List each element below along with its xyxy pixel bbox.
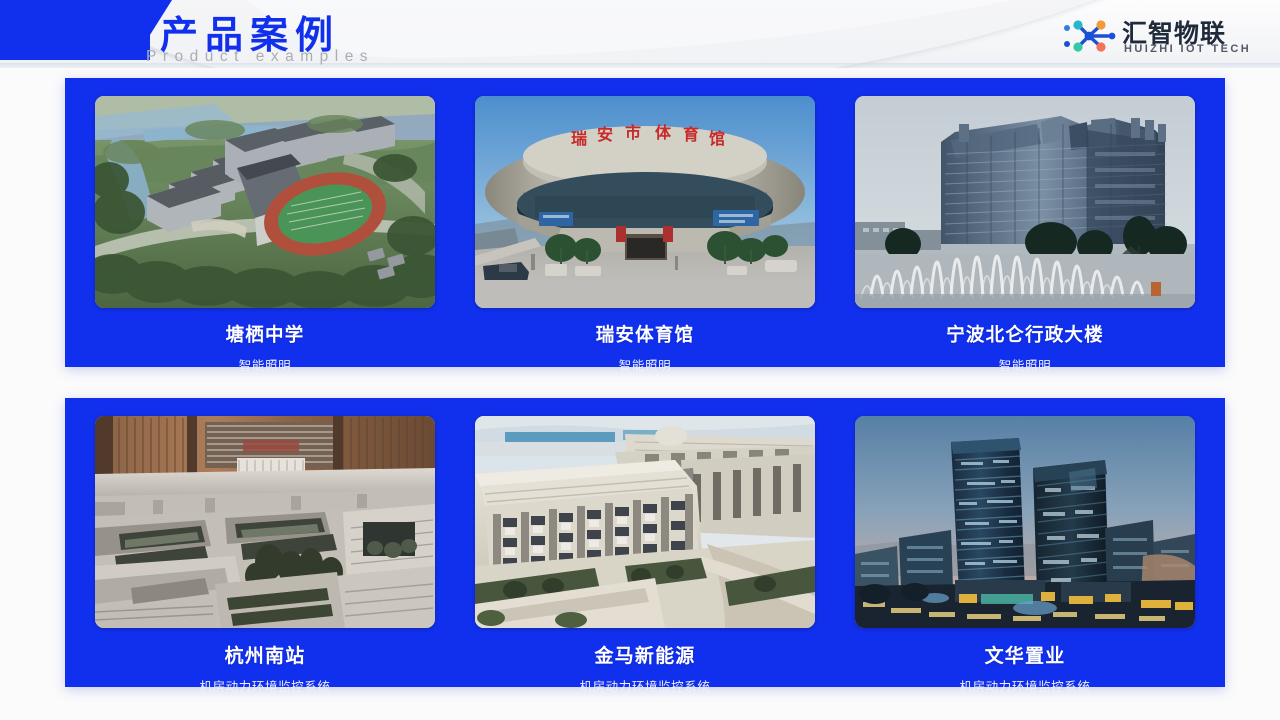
card-title: 塘栖中学	[95, 321, 435, 347]
aerial-school-campus-photo	[95, 96, 435, 308]
card-title: 宁波北仑行政大楼	[855, 321, 1195, 347]
card-subtitle: 机房动力环境监控系统	[475, 676, 815, 695]
card-title: 金马新能源	[475, 641, 815, 668]
card-title: 杭州南站	[95, 641, 435, 668]
railway-station-model-photo	[95, 416, 435, 628]
card-title: 瑞安体育馆	[475, 321, 815, 347]
card-subtitle: 机房动力环境监控系统	[855, 676, 1195, 695]
card-title: 文华置业	[855, 641, 1195, 668]
round-gymnasium-photo: 瑞安 市体 育馆	[475, 96, 815, 308]
twin-glass-towers-dusk-photo	[855, 416, 1195, 628]
molecule-network-icon	[1062, 17, 1118, 55]
product-row-1-panel: 塘栖中学 智能照明	[65, 78, 1225, 367]
slide-canvas: 产品案例 Product examples 汇智物联	[0, 0, 1280, 720]
card-subtitle: 智能照明	[855, 355, 1195, 374]
product-card-list-row-2: 杭州南站 机房动力环境监控系统	[65, 398, 1225, 687]
card-subtitle: 智能照明	[95, 355, 435, 374]
product-card-list-row-1: 塘栖中学 智能照明	[65, 78, 1225, 367]
product-card[interactable]: 文华置业 机房动力环境监控系统	[855, 416, 1195, 687]
card-subtitle: 机房动力环境监控系统	[95, 676, 435, 695]
product-card[interactable]: 金马新能源 机房动力环境监控系统	[475, 416, 815, 687]
product-card[interactable]: 瑞安 市体 育馆	[475, 96, 815, 367]
product-card[interactable]: 宁波北仑行政大楼 智能照明	[855, 96, 1195, 367]
logo-name-en: HUIZHI IOT TECH	[1124, 43, 1251, 55]
page-subtitle: Product examples	[146, 48, 374, 66]
industrial-factory-complex-photo	[475, 416, 815, 628]
office-building-fountain-photo	[855, 96, 1195, 308]
slide-header: 产品案例 Product examples 汇智物联	[0, 0, 1280, 68]
company-logo: 汇智物联 HUIZHI IOT TECH	[1062, 14, 1252, 58]
product-card[interactable]: 杭州南站 机房动力环境监控系统	[95, 416, 435, 687]
product-card[interactable]: 塘栖中学 智能照明	[95, 96, 435, 367]
product-row-2-panel: 杭州南站 机房动力环境监控系统	[65, 398, 1225, 687]
card-subtitle: 智能照明	[475, 355, 815, 374]
